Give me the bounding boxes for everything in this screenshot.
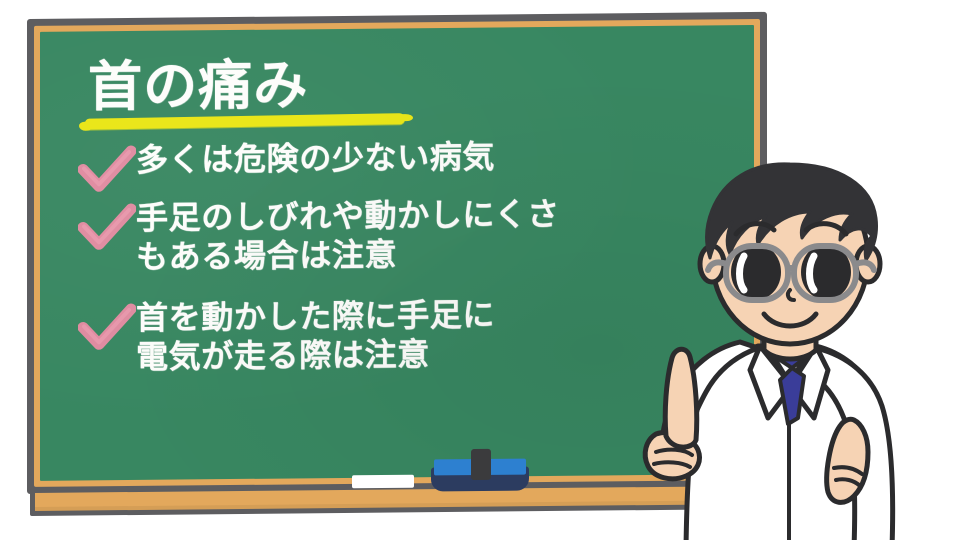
list-item-label: 多くは危険の少ない病気	[136, 136, 495, 180]
list-item: 首を動かした際に手足に 電気が走る際は注意	[78, 291, 738, 377]
doctor-character	[640, 118, 960, 540]
page-title: 首の痛み	[88, 57, 308, 116]
chalk-stick-icon	[352, 475, 414, 489]
list-item-label: 首を動かした際に手足に 電気が走る際は注意	[136, 294, 495, 378]
check-mark-icon	[78, 145, 136, 194]
bullet-list: 多くは危険の少ない病気 手足のしびれや動かしにくさ もある場合は注意	[78, 133, 738, 381]
check-mark-icon	[78, 203, 136, 252]
list-item: 手足のしびれや動かしにくさ もある場合は注意	[78, 191, 738, 277]
list-item-label: 手足のしびれや動かしにくさ もある場合は注意	[136, 193, 560, 277]
check-mark-icon	[78, 303, 136, 352]
eraser-handle	[471, 449, 491, 480]
blackboard-eraser-icon	[431, 455, 529, 492]
illustration-canvas: 首の痛み 多くは危険の少ない病気	[0, 0, 960, 540]
list-item: 多くは危険の少ない病気	[78, 133, 738, 193]
